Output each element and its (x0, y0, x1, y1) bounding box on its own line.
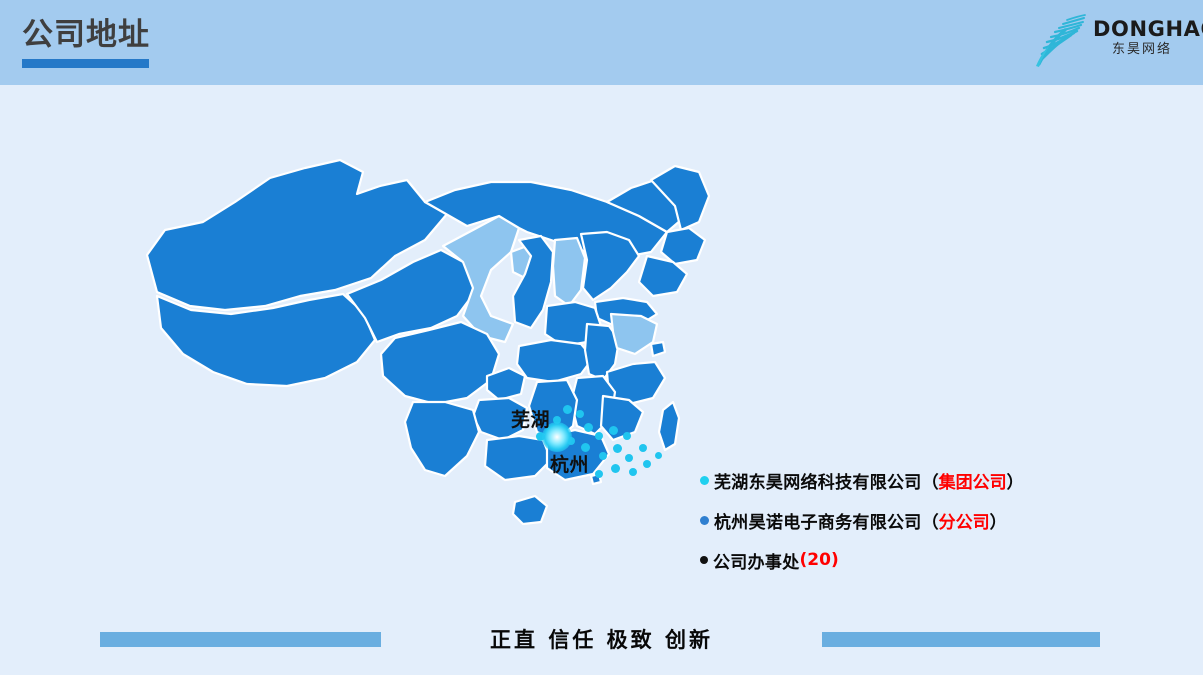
office-dot (584, 423, 593, 432)
office-dot (625, 454, 633, 462)
footer-bar-right (822, 632, 1100, 647)
office-dot (563, 405, 572, 414)
legend-item-note: (20) (800, 550, 839, 570)
office-dot (595, 432, 603, 440)
office-dot (595, 470, 603, 478)
legend-item-branch-company: 杭州昊诺电子商务有限公司 （分公司） (700, 500, 1170, 540)
logo-subtitle: 东昊网络 (1093, 40, 1191, 60)
legend-bullet-icon (700, 476, 709, 485)
office-dot (613, 444, 622, 453)
legend-item-offices: 公司办事处 (20) (700, 540, 1170, 580)
title-underline (22, 59, 149, 68)
map-label-hangzhou: 杭州 (550, 450, 589, 477)
legend-item-group-company: 芜湖东昊网络科技有限公司 （集团公司） (700, 460, 1170, 500)
legend-item-note: （集团公司） (922, 468, 1024, 493)
office-dot (623, 432, 631, 440)
note-close-paren: ) (831, 550, 839, 570)
legend-item-label: 杭州昊诺电子商务有限公司 (714, 508, 922, 533)
legend-item-note: （分公司） (922, 508, 1007, 533)
page-title: 公司地址 (22, 20, 150, 51)
note-open-paren: （ (922, 513, 939, 533)
office-dot (655, 452, 662, 459)
office-dot (576, 410, 584, 418)
legend-bullet-icon (700, 516, 709, 525)
logo-text: DONGHAO 东昊网络 (1093, 18, 1191, 60)
note-close-paren: ） (1007, 473, 1024, 493)
logo-name: DONGHAO (1093, 18, 1191, 40)
note-open-paren: （ (922, 473, 939, 493)
office-dot (643, 460, 651, 468)
note-close-paren: ） (990, 513, 1007, 533)
office-dot (609, 426, 618, 435)
note-highlight: 集团公司 (939, 473, 1007, 493)
office-dot (629, 468, 637, 476)
note-highlight: 分公司 (939, 513, 990, 533)
office-dot (599, 452, 607, 460)
legend: 芜湖东昊网络科技有限公司 （集团公司） 杭州昊诺电子商务有限公司 （分公司） 公… (700, 460, 1170, 580)
company-logo: DONGHAO 东昊网络 (1031, 8, 1191, 74)
feather-wing-icon (1031, 8, 1093, 70)
office-dot (611, 464, 620, 473)
map-label-wuhu: 芜湖 (511, 405, 550, 432)
note-highlight: 20 (807, 550, 831, 570)
china-map: 芜湖 杭州 (95, 110, 715, 610)
legend-bullet-icon (700, 556, 708, 564)
legend-item-label: 芜湖东昊网络科技有限公司 (714, 468, 922, 493)
page-header: 公司地址 (0, 0, 1203, 85)
legend-item-label: 公司办事处 (713, 548, 800, 573)
office-dot (639, 444, 647, 452)
